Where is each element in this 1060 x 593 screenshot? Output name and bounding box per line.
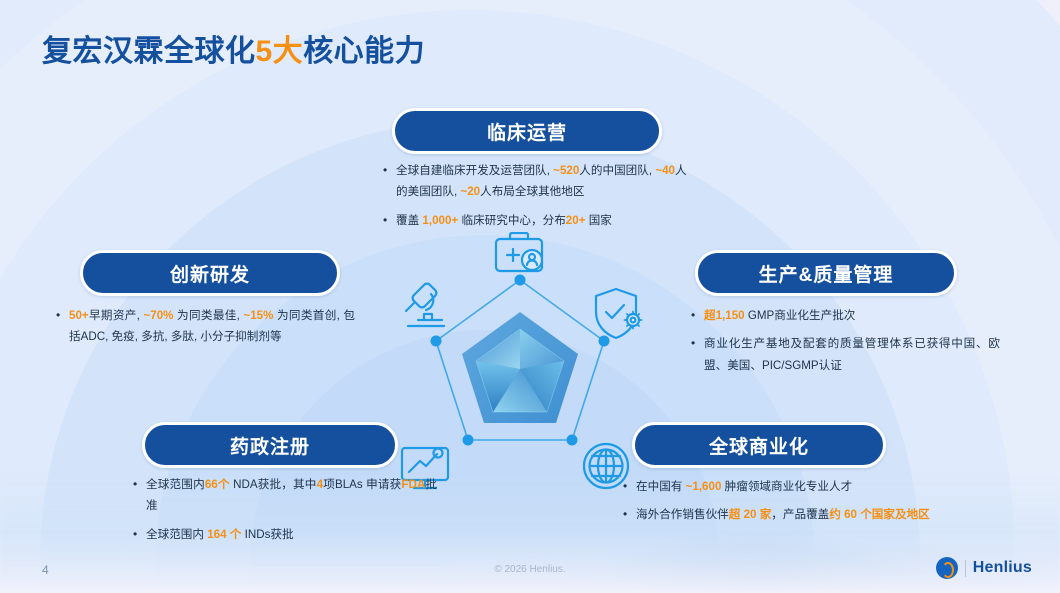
bullet-item: 在中国有 ~1,600 肿瘤领域商业化专业人才 [622,476,942,497]
shield-check-gear-icon [596,289,642,338]
bullet-highlight: 超1,150 [704,309,745,322]
medical-kit-icon [496,233,542,271]
bullet-item: 全球范围内66个 NDA获批，其中4项BLAs 申请获FDA批准 [132,474,437,517]
bullet-highlight: 164 个 [207,528,241,541]
bullet-item: 覆盖 1,000+ 临床研究中心，分布20+ 国家 [382,210,694,231]
bullet-item: 全球范围内 164 个 INDs获批 [132,524,437,545]
page-title-prefix: 复宏汉霖全球化 [42,35,256,68]
bullet-highlight: ~1,600 [686,480,722,493]
bullet-text: 肿瘤领域商业化专业人才 [721,480,852,493]
bullet-text: GMP商业化生产批次 [745,309,856,322]
card-title-text: 药政注册 [230,432,310,459]
bullet-item: 50+早期资产, ~70% 为同类最佳, ~15% 为同类首创, 包括ADC, … [55,305,355,348]
bullet-text: 覆盖 [396,214,422,227]
bullet-text: 人布局全球其他地区 [480,185,584,198]
bullet-text: 项BLAs 申请获 [323,478,401,491]
bullet-highlight: 20+ [566,214,586,227]
bullet-item: 海外合作销售伙伴超 20 家，产品覆盖约 60 个国家及地区 [622,504,942,525]
bullet-highlight: ~40 [655,164,675,177]
card-title-text: 创新研发 [170,260,250,287]
card-title-manufacturing-quality[interactable]: 生产&质量管理 [695,250,957,296]
bullet-text: 为同类最佳, [173,309,243,322]
bullet-text: 临床研究中心，分布 [458,214,566,227]
microscope-icon [406,284,444,326]
henlius-logo: Henlius [936,557,1032,579]
card-title-text: 临床运营 [487,118,567,145]
bullet-highlight: 超 20 家 [729,508,772,521]
bullet-text: 全球范围内 [146,528,207,541]
card-title-innovative-rd[interactable]: 创新研发 [80,250,340,296]
bullet-highlight: ~20 [460,185,480,198]
bullet-text: 全球范围内 [146,478,205,491]
center-pentagon-emblem [462,312,578,423]
page-title: 复宏汉霖全球化5大核心能力 [42,26,425,70]
card-title-text: 全球商业化 [709,432,809,459]
bullet-highlight: ~15% [243,309,273,322]
bullet-text: 人的中国团队, [579,164,655,177]
card-bullets-manufacturing-quality: 超1,150 GMP商业化生产批次商业化生产基地及配套的质量管理体系已获得中国、… [690,305,1000,383]
bullet-item: 超1,150 GMP商业化生产批次 [690,305,1000,326]
page-title-highlight: 5大 [256,35,304,68]
bullet-highlight: ~70% [144,309,174,322]
bullet-text: 商业化生产基地及配套的质量管理体系已获得中国、欧盟、美国、PIC/SGMP认证 [704,337,1000,371]
bullet-item: 全球自建临床开发及运营团队, ~520人的中国团队, ~40人的美国团队, ~2… [382,160,694,203]
bullet-highlight: 66个 [205,478,230,491]
card-bullets-clinical-operations: 全球自建临床开发及运营团队, ~520人的中国团队, ~40人的美国团队, ~2… [382,160,694,238]
bullet-highlight: 约 60 个国家及地区 [829,508,930,521]
bullet-text: ，产品覆盖 [771,508,829,521]
pentagon-capability-diagram [392,232,648,492]
page-title-suffix: 核心能力 [303,35,425,68]
card-bullets-global-commercialization: 在中国有 ~1,600 肿瘤领域商业化专业人才海外合作销售伙伴超 20 家，产品… [622,476,942,533]
slide-canvas: 复宏汉霖全球化5大核心能力 [0,0,1060,593]
bullet-highlight: 1,000+ [422,214,458,227]
bullet-item: 商业化生产基地及配套的质量管理体系已获得中国、欧盟、美国、PIC/SGMP认证 [690,333,1000,376]
card-bullets-regulatory-registration: 全球范围内66个 NDA获批，其中4项BLAs 申请获FDA批准 全球范围内 1… [132,474,437,552]
card-title-regulatory-registration[interactable]: 药政注册 [142,422,398,468]
bullet-text: 海外合作销售伙伴 [636,508,729,521]
card-bullets-innovative-rd: 50+早期资产, ~70% 为同类最佳, ~15% 为同类首创, 包括ADC, … [55,305,355,355]
bullet-text: 国家 [585,214,611,227]
card-title-clinical-operations[interactable]: 临床运营 [392,108,662,154]
bullet-highlight: 50+ [69,309,89,322]
logo-divider [965,560,966,577]
bullet-text: INDs获批 [241,528,293,541]
card-title-global-commercialization[interactable]: 全球商业化 [632,422,886,468]
bullet-text: 全球自建临床开发及运营团队, [396,164,553,177]
bullet-text: NDA获批，其中 [230,478,317,491]
bullet-text: 在中国有 [636,480,686,493]
bullet-highlight: ~520 [553,164,579,177]
henlius-logo-mark-icon [936,557,958,579]
copyright-notice: © 2026 Henlius. [0,564,1060,575]
bullet-highlight: FDA [401,478,425,491]
bullet-text: 早期资产, [89,309,144,322]
henlius-wordmark: Henlius [973,559,1032,577]
card-title-text: 生产&质量管理 [759,260,894,287]
